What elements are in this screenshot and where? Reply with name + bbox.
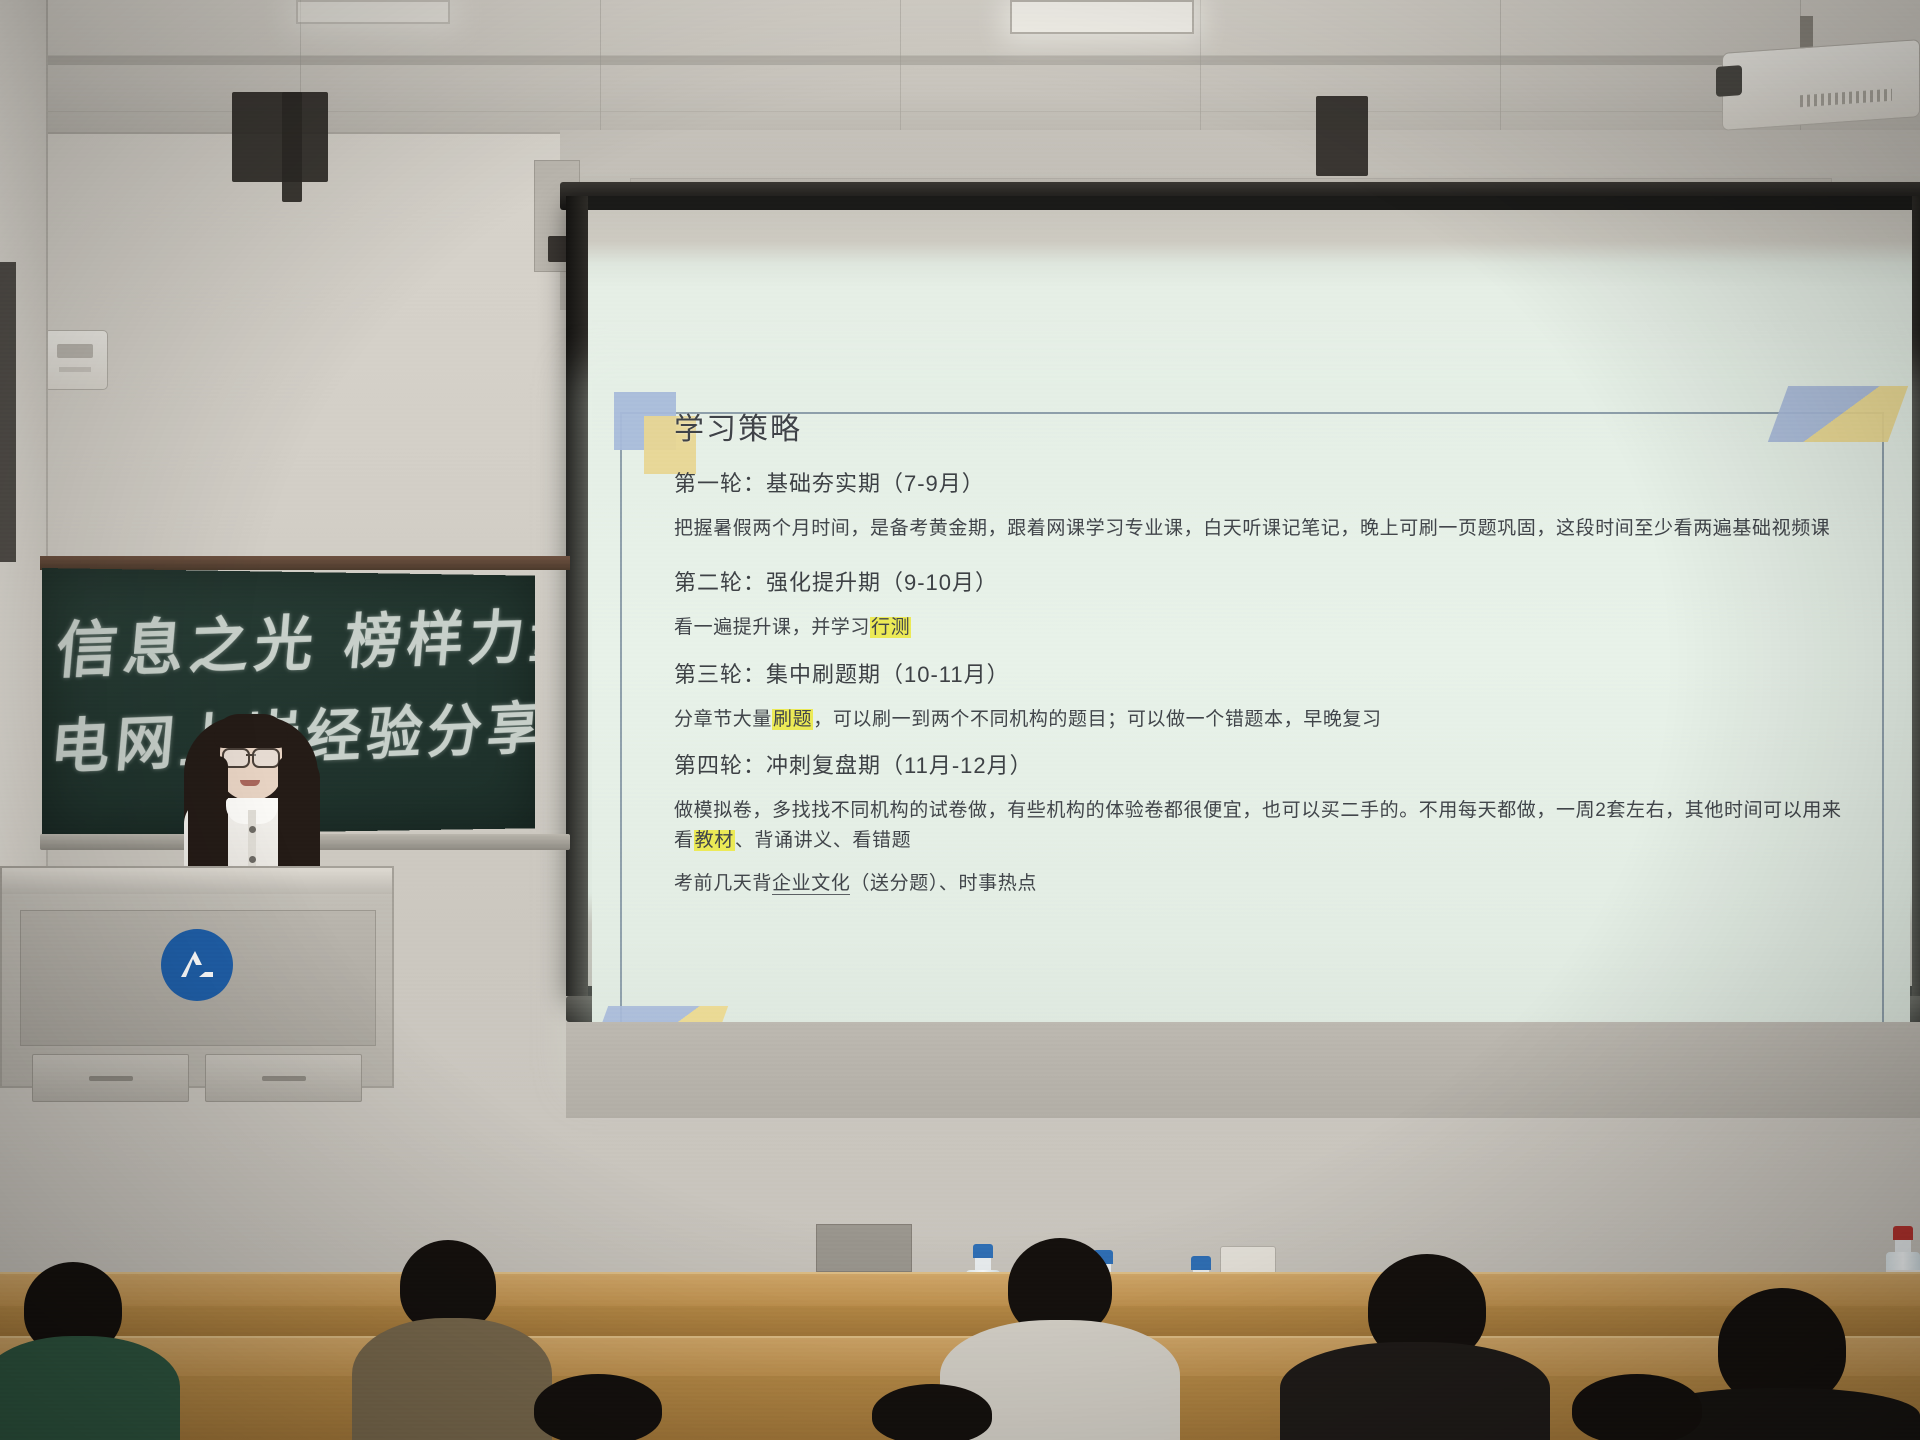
ceiling-projector xyxy=(1722,39,1920,131)
slide-heading-round-3: 第三轮：集中刷题期（10-11月） xyxy=(674,657,1852,689)
podium xyxy=(0,866,394,1088)
slide-content: 学习策略 第一轮：基础夯实期（7-9月） 把握暑假两个月时间，是备考黄金期，跟着… xyxy=(674,404,1852,921)
slide-heading-round-1: 第一轮：基础夯实期（7-9月） xyxy=(674,466,1852,498)
podium-top-surface xyxy=(2,868,392,894)
blackboard-top-frame xyxy=(40,556,570,570)
ceiling-light-panel xyxy=(1010,0,1194,34)
wall-conduit xyxy=(1316,96,1368,176)
presenter-fringe xyxy=(214,714,288,748)
lower-wall xyxy=(566,1022,1920,1118)
audience-shoulders xyxy=(352,1318,552,1440)
wall-sensor xyxy=(44,330,108,390)
audience-head xyxy=(872,1384,992,1440)
shirt-button xyxy=(249,856,256,863)
highlight-xingce: 行测 xyxy=(870,617,911,638)
projector-lens xyxy=(1716,65,1742,97)
highlight-shuati: 刷题 xyxy=(772,709,813,730)
audience-head xyxy=(534,1374,662,1440)
wall-conduit xyxy=(282,92,302,202)
podium-drawer xyxy=(205,1054,362,1102)
audience-shoulders xyxy=(0,1336,180,1440)
underline-qiyewenhua: 企业文化 xyxy=(772,873,850,895)
slide-heading-round-2: 第二轮：强化提升期（9-10月） xyxy=(674,565,1852,597)
podium-drawer xyxy=(32,1054,189,1102)
slide-paragraph-final: 考前几天背企业文化（送分题）、时事热点 xyxy=(674,869,1852,898)
presenter-glasses xyxy=(222,748,280,764)
highlight-jiaocai: 教材 xyxy=(694,830,735,851)
shirt-button xyxy=(249,826,256,833)
presenter-mouth xyxy=(240,780,260,786)
ceiling-beam xyxy=(0,56,1920,65)
slide-title: 学习策略 xyxy=(674,404,1852,448)
lecture-hall-photo: 学习策略 第一轮：基础夯实期（7-9月） 把握暑假两个月时间，是备考黄金期，跟着… xyxy=(0,0,1920,1440)
slide-paragraph-round-4: 做模拟卷，多找找不同机构的试卷做，有些机构的体验卷都很便宜，也可以买二手的。不用… xyxy=(674,796,1852,855)
bench-front-panel xyxy=(0,1306,1920,1336)
blackboard-text-line-1: 信息之光 榜样力量 xyxy=(53,588,535,690)
screen-border-right xyxy=(1912,196,1920,996)
floor-vent xyxy=(816,1224,912,1272)
wall-conduit xyxy=(232,92,328,182)
audience-head xyxy=(1572,1374,1702,1440)
podium-drawers xyxy=(32,1054,362,1102)
projected-slide: 学习策略 第一轮：基础夯实期（7-9月） 把握暑假两个月时间，是备考黄金期，跟着… xyxy=(592,382,1910,1072)
slide-paragraph-round-2: 看一遍提升课，并学习行测 xyxy=(674,613,1852,642)
slide-paragraph-round-3: 分章节大量刷题，可以刷一到两个不同机构的题目；可以做一个错题本，早晚复习 xyxy=(674,705,1852,734)
podium-front-panel xyxy=(20,910,376,1046)
audience-shoulders xyxy=(1280,1342,1550,1440)
slide-heading-round-4: 第四轮：冲刺复盘期（11月-12月） xyxy=(674,748,1852,780)
pillar-shadow xyxy=(0,262,16,562)
institution-logo-icon xyxy=(161,929,233,1001)
slide-paragraph-round-1: 把握暑假两个月时间，是备考黄金期，跟着网课学习专业课，白天听课记笔记，晚上可刷一… xyxy=(674,514,1852,543)
ceiling-light-panel xyxy=(296,0,450,24)
